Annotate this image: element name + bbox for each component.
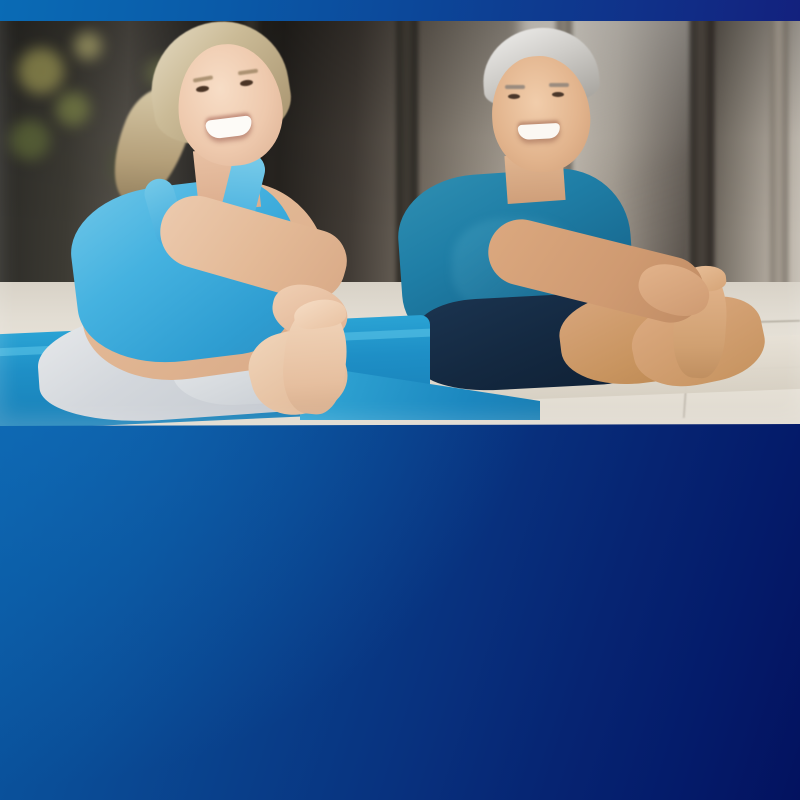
man-eyebrow — [549, 83, 569, 87]
man-eyebrow — [505, 85, 525, 89]
product-benefit-ad-card: HELPS WITH OCCASIONAL JOINT STIFFNESS*, … — [0, 0, 800, 800]
foliage-bokeh — [56, 92, 90, 126]
foliage-bokeh — [10, 120, 50, 160]
door-frame — [770, 0, 788, 330]
lifestyle-photo — [0, 0, 800, 432]
man-eye — [552, 92, 564, 97]
foliage-bokeh — [18, 48, 64, 94]
top-blue-strip — [0, 0, 800, 21]
foliage-bokeh — [74, 32, 102, 60]
man-eye — [508, 94, 520, 99]
